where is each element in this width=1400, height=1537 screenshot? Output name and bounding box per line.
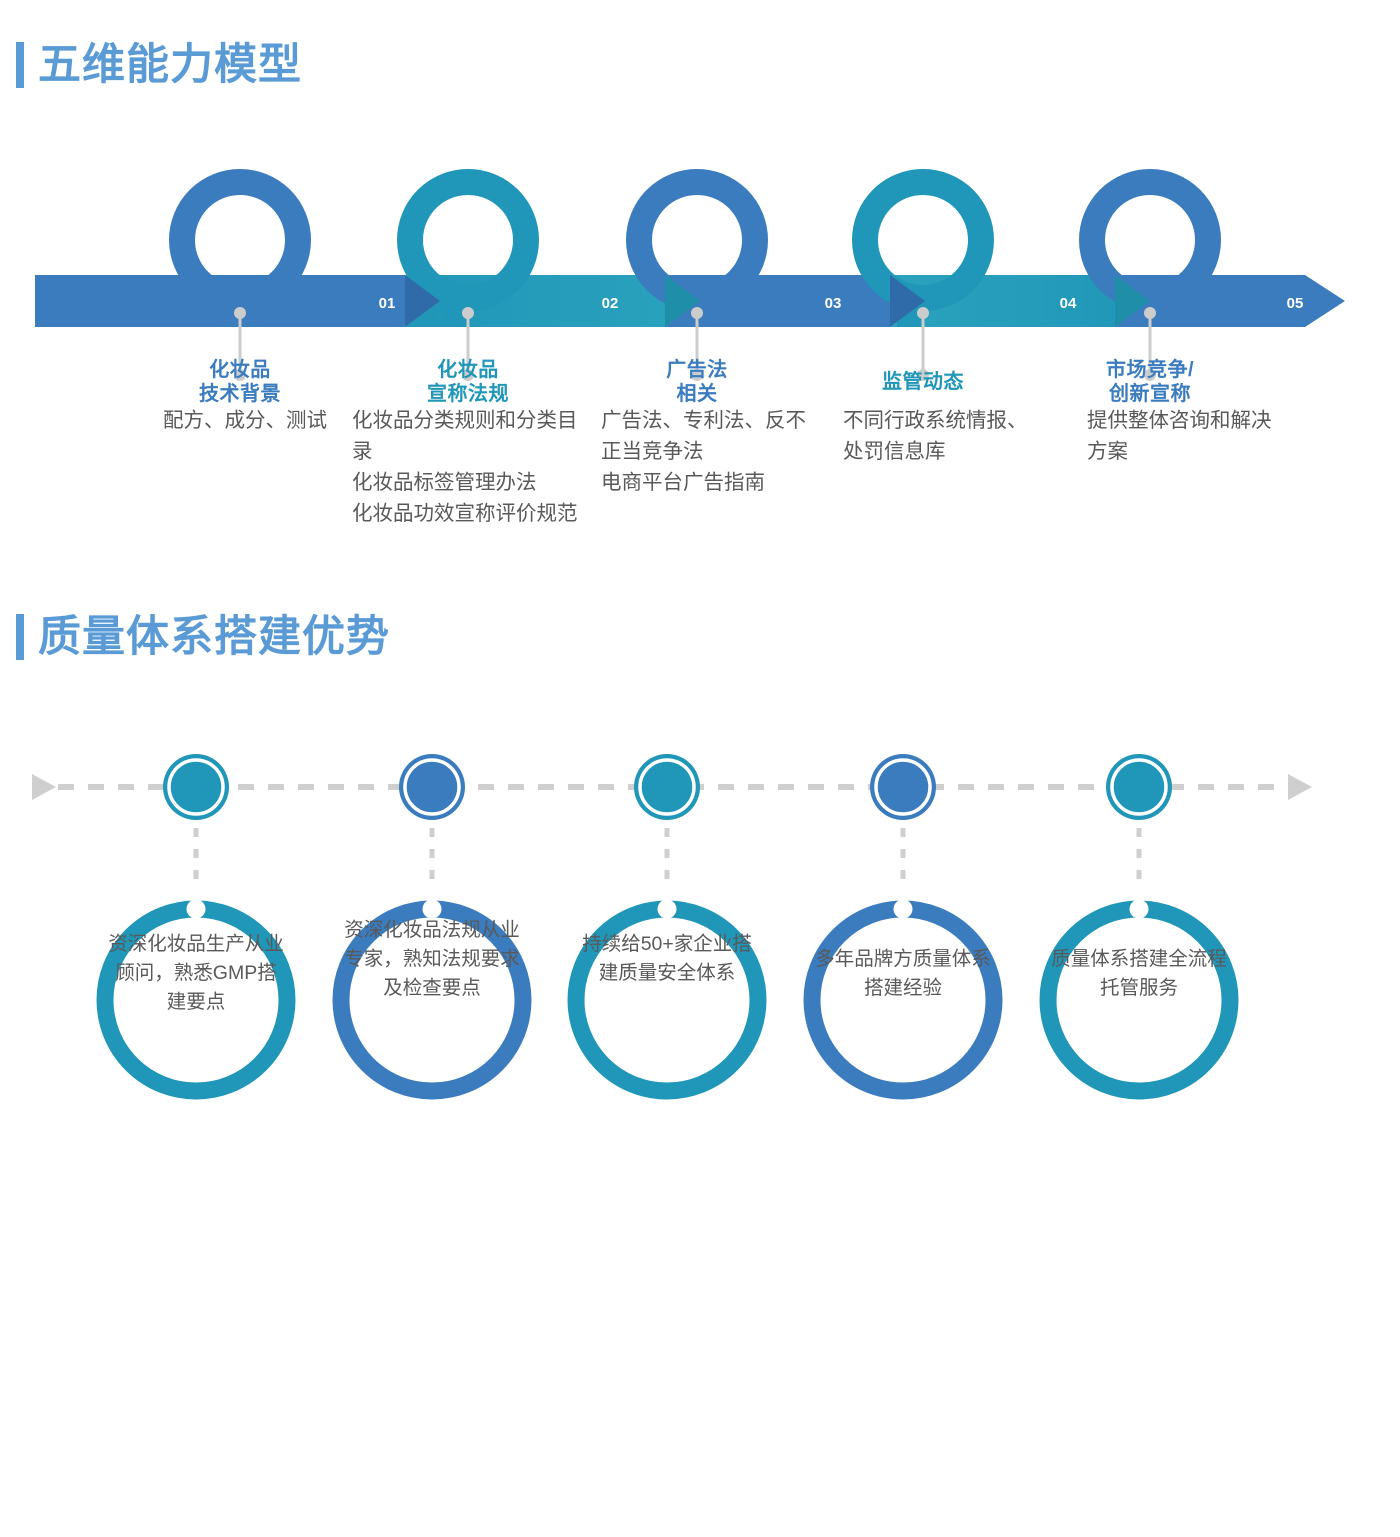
capability-description-04: 不同行政系统情报、处罚信息库 [843,405,1043,467]
advantage-ring-3 [576,900,758,1092]
timeline-index-01: 01 [379,295,396,312]
capability-description-03: 广告法、专利法、反不正当竞争法 电商平台广告指南 [601,405,811,498]
step-circle-4 [870,754,936,820]
advantage-ring-1 [105,900,287,1092]
timeline-index-03: 03 [825,295,842,312]
step-number-1: 1 [164,1501,228,1535]
title-accent-bar [16,42,24,88]
step-number-4: 4 [871,1501,935,1535]
step-circle-1 [163,754,229,820]
step-circle-5 [1106,754,1172,820]
advantage-ring-5 [1048,900,1230,1092]
timeline-index-04: 04 [1060,295,1077,312]
capability-description-01: 配方、成分、测试 [163,405,343,436]
track-arrow-right [1288,774,1312,800]
advantage-ring-4 [812,900,994,1092]
quality-system-timeline: 1 2 3 4 5 资深化妆品生产从业顾问，熟悉GMP搭建要点 资深化妆品法规从… [0,730,1400,1130]
timeline-index-02: 02 [602,295,619,312]
track-arrow-left [32,774,56,800]
capability-description-05: 提供整体咨询和解决方案 [1087,405,1282,467]
step-circle-3 [634,754,700,820]
capability-description-02: 化妆品分类规则和分类目录 化妆品标签管理办法 化妆品功效宣称评价规范 [352,405,587,530]
step-circle-2 [399,754,465,820]
section-title-text-2: 质量体系搭建优势 [38,616,390,659]
advantage-ring-2 [341,900,523,1092]
section-title-quality-system: 质量体系搭建优势 [16,614,390,660]
step-number-2: 2 [400,1501,464,1535]
step-droppers [196,828,1139,890]
capability-model-timeline: 01 02 03 04 05 化妆品 技术背景 化妆品 宣称法规 广告法 相关 … [0,150,1400,570]
title-accent-bar-2 [16,614,24,660]
section-title-text: 五维能力模型 [38,44,302,87]
step-number-5: 5 [1107,1501,1171,1535]
step-number-3: 3 [635,1501,699,1535]
timeline-index-05: 05 [1287,295,1304,312]
section-title-capability-model: 五维能力模型 [16,42,302,88]
